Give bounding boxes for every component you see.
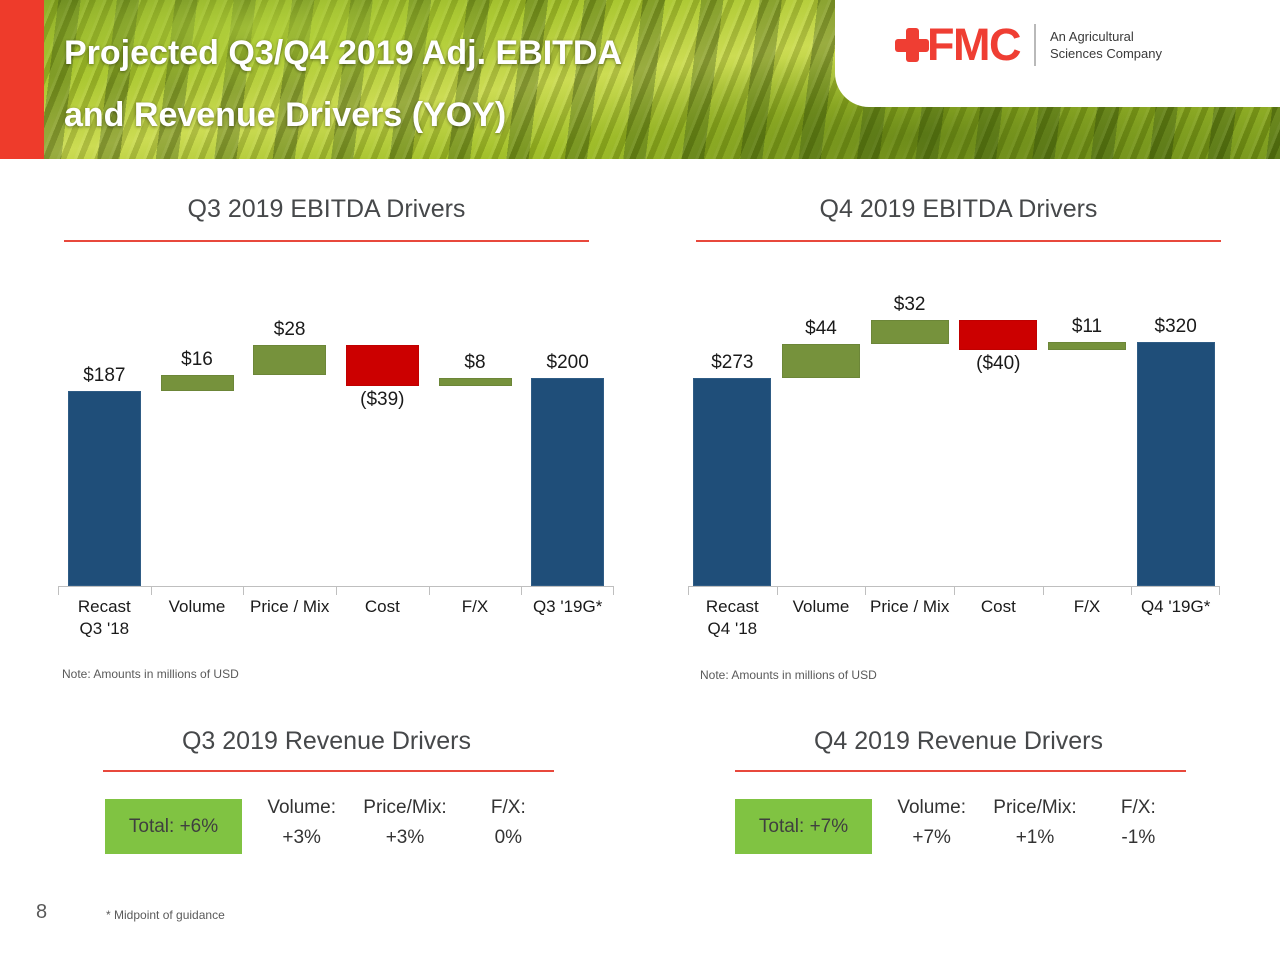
x-axis-category-label: Price / Mix bbox=[865, 596, 954, 618]
logo-tagline: An Agricultural Sciences Company bbox=[1050, 28, 1162, 62]
axis-tick bbox=[521, 586, 522, 595]
revenue-driver-value: +1% bbox=[983, 823, 1086, 853]
plot-area-q3: $187$16$28($39)$8$200 bbox=[58, 262, 614, 587]
logo-tagline-line1: An Agricultural bbox=[1050, 28, 1162, 45]
x-axis-label-line: Cost bbox=[336, 596, 429, 618]
bar-value-label: $32 bbox=[865, 294, 954, 316]
chart-title-q4-ebitda: Q4 2019 EBITDA Drivers bbox=[696, 195, 1221, 224]
chart-title-rule-q4-ebitda bbox=[696, 240, 1221, 242]
axis-tick bbox=[429, 586, 430, 595]
revenue-drivers-q4: Volume:+7%Price/Mix:+1%F/X:-1% bbox=[880, 793, 1190, 853]
page-title: Projected Q3/Q4 2019 Adj. EBITDA and Rev… bbox=[64, 22, 864, 146]
axis-tick bbox=[336, 586, 337, 595]
revenue-driver-column: Price/Mix:+1% bbox=[983, 793, 1086, 853]
revenue-driver-column: Volume:+3% bbox=[250, 793, 353, 853]
revenue-driver-key: Price/Mix: bbox=[353, 793, 456, 823]
page-title-line2: and Revenue Drivers (YOY) bbox=[64, 84, 864, 146]
x-axis-category-label: Q4 '19G* bbox=[1131, 596, 1220, 618]
x-axis-label-line: Volume bbox=[777, 596, 866, 618]
plot-area-q4: $273$44$32($40)$11$320 bbox=[688, 262, 1220, 587]
x-axis-labels-q3: RecastQ3 '18VolumePrice / MixCostF/XQ3 '… bbox=[58, 596, 614, 646]
x-axis-label-line: Q4 '19G* bbox=[1131, 596, 1220, 618]
revenue-drivers-q3: Volume:+3%Price/Mix:+3%F/X:0% bbox=[250, 793, 560, 853]
axis-tick bbox=[777, 586, 778, 595]
x-axis-label-line: Q4 '18 bbox=[688, 618, 777, 640]
page-title-line1: Projected Q3/Q4 2019 Adj. EBITDA bbox=[64, 22, 864, 84]
bar-value-label: $200 bbox=[521, 352, 614, 374]
bar-value-label: $273 bbox=[688, 352, 777, 374]
bar-f-x bbox=[1048, 342, 1126, 350]
bar-volume bbox=[161, 375, 234, 392]
x-axis-label-line: Recast bbox=[58, 596, 151, 618]
bar-q3-19g bbox=[531, 378, 604, 586]
x-axis-category-label: F/X bbox=[1043, 596, 1132, 618]
bar-value-label: $16 bbox=[151, 349, 244, 371]
x-axis-category-label: Cost bbox=[336, 596, 429, 618]
revenue-driver-key: F/X: bbox=[1087, 793, 1190, 823]
revenue-driver-column: Volume:+7% bbox=[880, 793, 983, 853]
bar-value-label: $11 bbox=[1043, 316, 1132, 338]
axis-tick bbox=[865, 586, 866, 595]
x-axis-label-line: Price / Mix bbox=[865, 596, 954, 618]
revenue-driver-key: Volume: bbox=[250, 793, 353, 823]
x-axis-labels-q4: RecastQ4 '18VolumePrice / MixCostF/XQ4 '… bbox=[688, 596, 1220, 646]
section-rule-q4-revenue bbox=[735, 770, 1186, 772]
x-axis-label-line: F/X bbox=[429, 596, 522, 618]
x-axis-label-line: Recast bbox=[688, 596, 777, 618]
waterfall-chart-q3-ebitda: $187$16$28($39)$8$200 bbox=[58, 262, 614, 587]
axis-tick bbox=[243, 586, 244, 595]
x-axis-label-line: Cost bbox=[954, 596, 1043, 618]
chart-title-q3-ebitda: Q3 2019 EBITDA Drivers bbox=[64, 195, 589, 224]
revenue-driver-value: 0% bbox=[457, 823, 560, 853]
x-axis-category-label: RecastQ3 '18 bbox=[58, 596, 151, 640]
footnote: * Midpoint of guidance bbox=[106, 908, 225, 922]
x-axis-category-label: Cost bbox=[954, 596, 1043, 618]
revenue-driver-value: -1% bbox=[1087, 823, 1190, 853]
bar-value-label: ($40) bbox=[954, 353, 1043, 375]
section-title-q4-revenue: Q4 2019 Revenue Drivers bbox=[696, 727, 1221, 756]
revenue-driver-value: +7% bbox=[880, 823, 983, 853]
bar-volume bbox=[782, 344, 860, 378]
revenue-driver-column: F/X:-1% bbox=[1087, 793, 1190, 853]
axis-tick bbox=[688, 586, 689, 595]
chart-note-q4: Note: Amounts in millions of USD bbox=[700, 668, 877, 682]
revenue-driver-value: +3% bbox=[250, 823, 353, 853]
logo-divider bbox=[1034, 24, 1036, 66]
waterfall-chart-q4-ebitda: $273$44$32($40)$11$320 bbox=[688, 262, 1220, 587]
x-axis-category-label: F/X bbox=[429, 596, 522, 618]
axis-tick bbox=[151, 586, 152, 595]
x-axis-category-label: Volume bbox=[777, 596, 866, 618]
revenue-driver-value: +3% bbox=[353, 823, 456, 853]
bar-recast-q4-18 bbox=[693, 378, 771, 586]
bar-cost bbox=[959, 320, 1037, 351]
revenue-driver-column: F/X:0% bbox=[457, 793, 560, 853]
revenue-total-badge-q4: Total: +7% bbox=[735, 799, 872, 854]
x-axis-label-line: Q3 '19G* bbox=[521, 596, 614, 618]
bar-value-label: $320 bbox=[1131, 316, 1220, 338]
bar-value-label: $28 bbox=[243, 319, 336, 341]
bar-recast-q3-18 bbox=[68, 391, 141, 586]
x-axis-label-line: Price / Mix bbox=[243, 596, 336, 618]
logo-mark: FMC bbox=[895, 22, 1020, 67]
bar-value-label: $187 bbox=[58, 365, 151, 387]
bar-cost bbox=[346, 345, 419, 386]
section-title-q3-revenue: Q3 2019 Revenue Drivers bbox=[64, 727, 589, 756]
axis-tick bbox=[613, 586, 614, 595]
x-axis-category-label: Volume bbox=[151, 596, 244, 618]
axis-tick bbox=[954, 586, 955, 595]
bar-value-label: $8 bbox=[429, 352, 522, 374]
chart-note-q3: Note: Amounts in millions of USD bbox=[62, 667, 239, 681]
revenue-driver-key: F/X: bbox=[457, 793, 560, 823]
logo-wordmark: FMC bbox=[927, 22, 1020, 67]
bar-f-x bbox=[439, 378, 512, 386]
chart-title-rule-q3-ebitda bbox=[64, 240, 589, 242]
x-axis-category-label: Price / Mix bbox=[243, 596, 336, 618]
logo-tagline-line2: Sciences Company bbox=[1050, 45, 1162, 62]
axis-tick bbox=[58, 586, 59, 595]
x-axis-label-line: F/X bbox=[1043, 596, 1132, 618]
bar-q4-19g bbox=[1137, 342, 1215, 586]
section-rule-q3-revenue bbox=[103, 770, 554, 772]
page-number: 8 bbox=[36, 901, 47, 924]
header-red-accent-bar bbox=[0, 0, 44, 159]
x-axis-label-line: Q3 '18 bbox=[58, 618, 151, 640]
x-axis-label-line: Volume bbox=[151, 596, 244, 618]
bar-value-label: ($39) bbox=[336, 389, 429, 411]
revenue-driver-column: Price/Mix:+3% bbox=[353, 793, 456, 853]
axis-tick bbox=[1131, 586, 1132, 595]
slide-header: Projected Q3/Q4 2019 Adj. EBITDA and Rev… bbox=[0, 0, 1280, 159]
axis-tick bbox=[1219, 586, 1220, 595]
x-axis-category-label: Q3 '19G* bbox=[521, 596, 614, 618]
cross-icon bbox=[895, 28, 929, 62]
axis-tick bbox=[1043, 586, 1044, 595]
bar-value-label: $44 bbox=[777, 318, 866, 340]
bar-price-mix bbox=[253, 345, 326, 374]
revenue-driver-key: Volume: bbox=[880, 793, 983, 823]
logo-panel: FMC An Agricultural Sciences Company bbox=[835, 0, 1280, 107]
revenue-total-badge-q3: Total: +6% bbox=[105, 799, 242, 854]
fmc-logo: FMC An Agricultural Sciences Company bbox=[895, 22, 1162, 67]
revenue-driver-key: Price/Mix: bbox=[983, 793, 1086, 823]
x-axis-category-label: RecastQ4 '18 bbox=[688, 596, 777, 640]
bar-price-mix bbox=[871, 320, 949, 344]
